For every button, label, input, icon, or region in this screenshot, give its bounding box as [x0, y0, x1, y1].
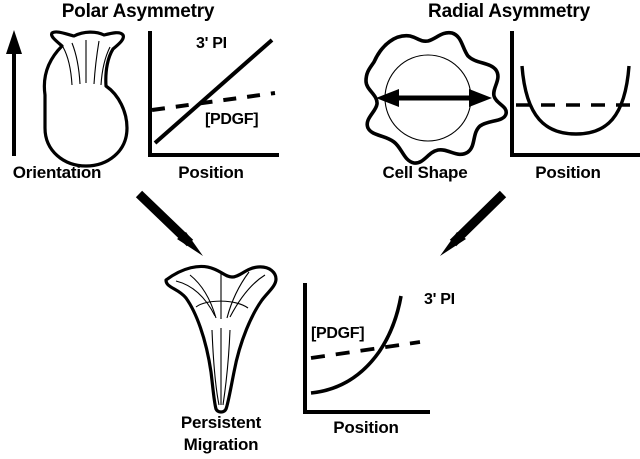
left-cell-label: Orientation	[13, 164, 101, 181]
right-cell-label: Cell Shape	[383, 164, 468, 181]
polarized-cell-icon	[44, 32, 127, 166]
left-graph-xlabel: Position	[178, 164, 243, 181]
right-graph-xlabel: Position	[535, 164, 600, 181]
bottom-graph-label-pdgf: [PDGF]	[311, 326, 364, 342]
double-headed-arrow-icon	[376, 89, 492, 107]
asymmetry-diagram: Polar Asymmetry Radial Asymmetry Orienta…	[0, 0, 640, 459]
left-graph-series-pdgf	[152, 93, 275, 110]
bottom-graph-xlabel: Position	[333, 419, 398, 436]
left-to-bottom-arrow	[139, 194, 203, 256]
right-panel-title: Radial Asymmetry	[428, 2, 590, 21]
left-graph-label-3prime-pi: 3' PI	[196, 36, 227, 52]
bottom-graph-series-pdgf	[311, 342, 420, 358]
right-graph-axes	[512, 33, 640, 155]
diagram-canvas	[0, 0, 640, 459]
right-to-bottom-arrow	[440, 194, 503, 256]
left-graph-label-pdgf: [PDGF]	[205, 112, 258, 128]
bottom-graph-label-3prime-pi: 3' PI	[424, 292, 455, 308]
up-arrow-icon	[6, 30, 22, 156]
left-panel-title: Polar Asymmetry	[62, 2, 215, 21]
bottom-cell-label-line2: Migration	[181, 434, 261, 456]
bottom-graph-series-3prime-pi	[311, 296, 401, 393]
migrating-fan-cell-icon	[166, 266, 276, 412]
right-graph-series-curve	[522, 66, 629, 134]
bottom-cell-label-line1: Persistent	[181, 412, 261, 434]
bottom-cell-label: Persistent Migration	[181, 412, 261, 456]
